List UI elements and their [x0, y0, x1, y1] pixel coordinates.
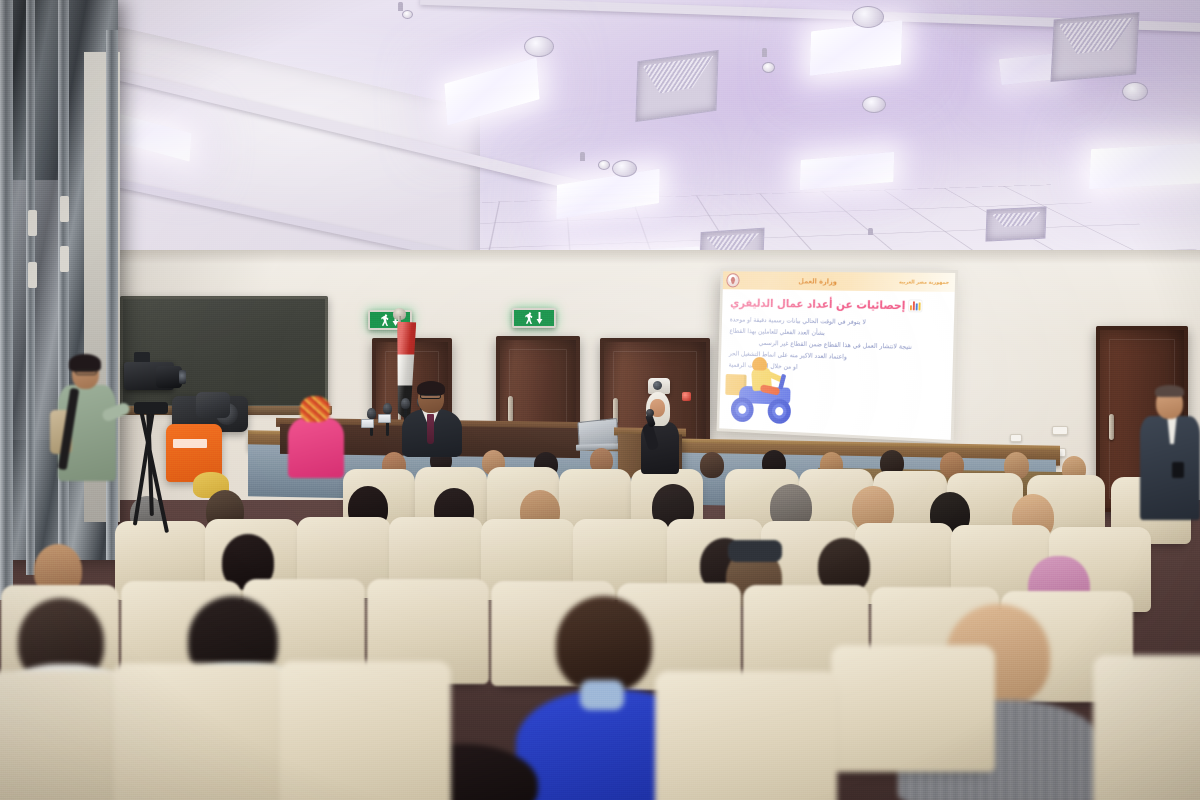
slide-title-row: إحصائيات عن أعداد عمال الدليفري — [730, 296, 922, 313]
ceiling-speaker-icon — [852, 6, 884, 28]
ceiling-speaker-icon — [862, 96, 886, 113]
partition-latch[interactable] — [28, 210, 37, 236]
smoke-detector-icon — [598, 160, 610, 170]
audience-seat[interactable] — [120, 668, 276, 800]
light-switch-plate[interactable] — [1052, 426, 1068, 435]
sunglasses-on-head-icon — [728, 540, 782, 562]
partition-latch[interactable] — [60, 246, 69, 272]
sprinkler-head-icon — [868, 228, 873, 235]
door-handle-icon — [508, 396, 513, 422]
slide-body: إحصائيات عن أعداد عمال الدليفري لا يتوفر… — [719, 289, 955, 440]
camera-lens — [156, 366, 182, 388]
microphone-station-flag — [361, 419, 374, 428]
door-handle-icon — [1109, 414, 1114, 440]
slide-body-line: لا يتوفر في الوقت الحالي بيانات رسمية دق… — [730, 316, 866, 325]
bar-chart-emoji-icon — [909, 300, 922, 311]
press-conference-photo: وزارة العمل جمهورية مصر العربية إحصائيات… — [0, 0, 1200, 800]
cameraman-glasses-icon — [75, 369, 97, 375]
presentation-slide: وزارة العمل جمهورية مصر العربية إحصائيات… — [719, 271, 955, 440]
slide-ministry-name: وزارة العمل — [798, 277, 837, 286]
helmet-icon — [752, 357, 767, 371]
pink-jacket-torso — [288, 418, 344, 478]
audience-seat[interactable] — [838, 650, 988, 770]
wall-alarm-indicator — [682, 392, 691, 401]
foreground-head — [556, 596, 652, 692]
partition-latch[interactable] — [60, 196, 69, 222]
emergency-exit-sign — [512, 308, 556, 328]
sprinkler-head-icon — [580, 152, 585, 161]
slide-body-line: بشأن العدد الفعلي للعاملين بهذا القطاع — [729, 328, 824, 337]
ministry-emblem-icon — [726, 273, 739, 287]
smoke-detector-icon — [402, 10, 413, 19]
audience-head — [700, 452, 724, 478]
press-microphone-head — [401, 398, 410, 409]
partition-mullion — [0, 0, 13, 600]
ceiling-speaker-icon — [612, 160, 637, 177]
light-panel — [1089, 143, 1200, 189]
microphone-station-flag — [378, 414, 391, 423]
slide-title-text: إحصائيات عن أعداد عمال الدليفري — [730, 296, 906, 312]
suspended-ceiling — [0, 0, 1200, 278]
chairman-tie — [427, 414, 434, 444]
sprinkler-head-icon — [762, 48, 767, 57]
camera-equipment-pile — [196, 392, 230, 418]
chairman-glasses-icon — [420, 394, 441, 399]
partition-latch[interactable] — [28, 262, 37, 288]
ceiling-speaker-icon — [1122, 82, 1148, 101]
microphone-capsule-icon — [646, 409, 654, 417]
audience-seat[interactable] — [286, 666, 444, 800]
audience-seat[interactable] — [662, 676, 830, 800]
scooter-wheel — [731, 397, 754, 423]
air-diffuser — [1051, 12, 1140, 82]
mobile-phone-icon — [1172, 462, 1184, 478]
suit-hair — [1155, 385, 1184, 397]
air-diffuser — [635, 50, 718, 122]
audience-seat[interactable] — [0, 676, 120, 800]
patterned-headscarf — [300, 396, 330, 422]
air-diffuser — [985, 206, 1046, 241]
running-man-icon — [525, 312, 534, 324]
projection-screen: وزارة العمل جمهورية مصر العربية إحصائيات… — [719, 271, 955, 440]
wall-socket-plate[interactable] — [1010, 434, 1022, 442]
slide-body-line: نتيجة لانتشار العمل في هذا القطاع ضمن ال… — [759, 340, 912, 351]
press-microphone-head — [383, 403, 392, 414]
ceiling-speaker-icon — [524, 36, 554, 57]
down-arrow-icon — [536, 312, 543, 324]
smoke-detector-icon — [762, 62, 775, 73]
delivery-scooter-illustration — [725, 353, 801, 424]
slide-country-name: جمهورية مصر العربية — [899, 279, 949, 285]
press-microphone-head — [367, 408, 376, 419]
scooter-wheel — [767, 398, 791, 424]
camera-viewfinder — [134, 352, 150, 362]
running-man-icon — [381, 314, 390, 326]
audience-seat[interactable] — [1100, 660, 1200, 800]
tripod-head — [134, 402, 168, 414]
hair-scrunchie-icon — [580, 680, 624, 710]
sprinkler-head-icon — [398, 2, 403, 11]
